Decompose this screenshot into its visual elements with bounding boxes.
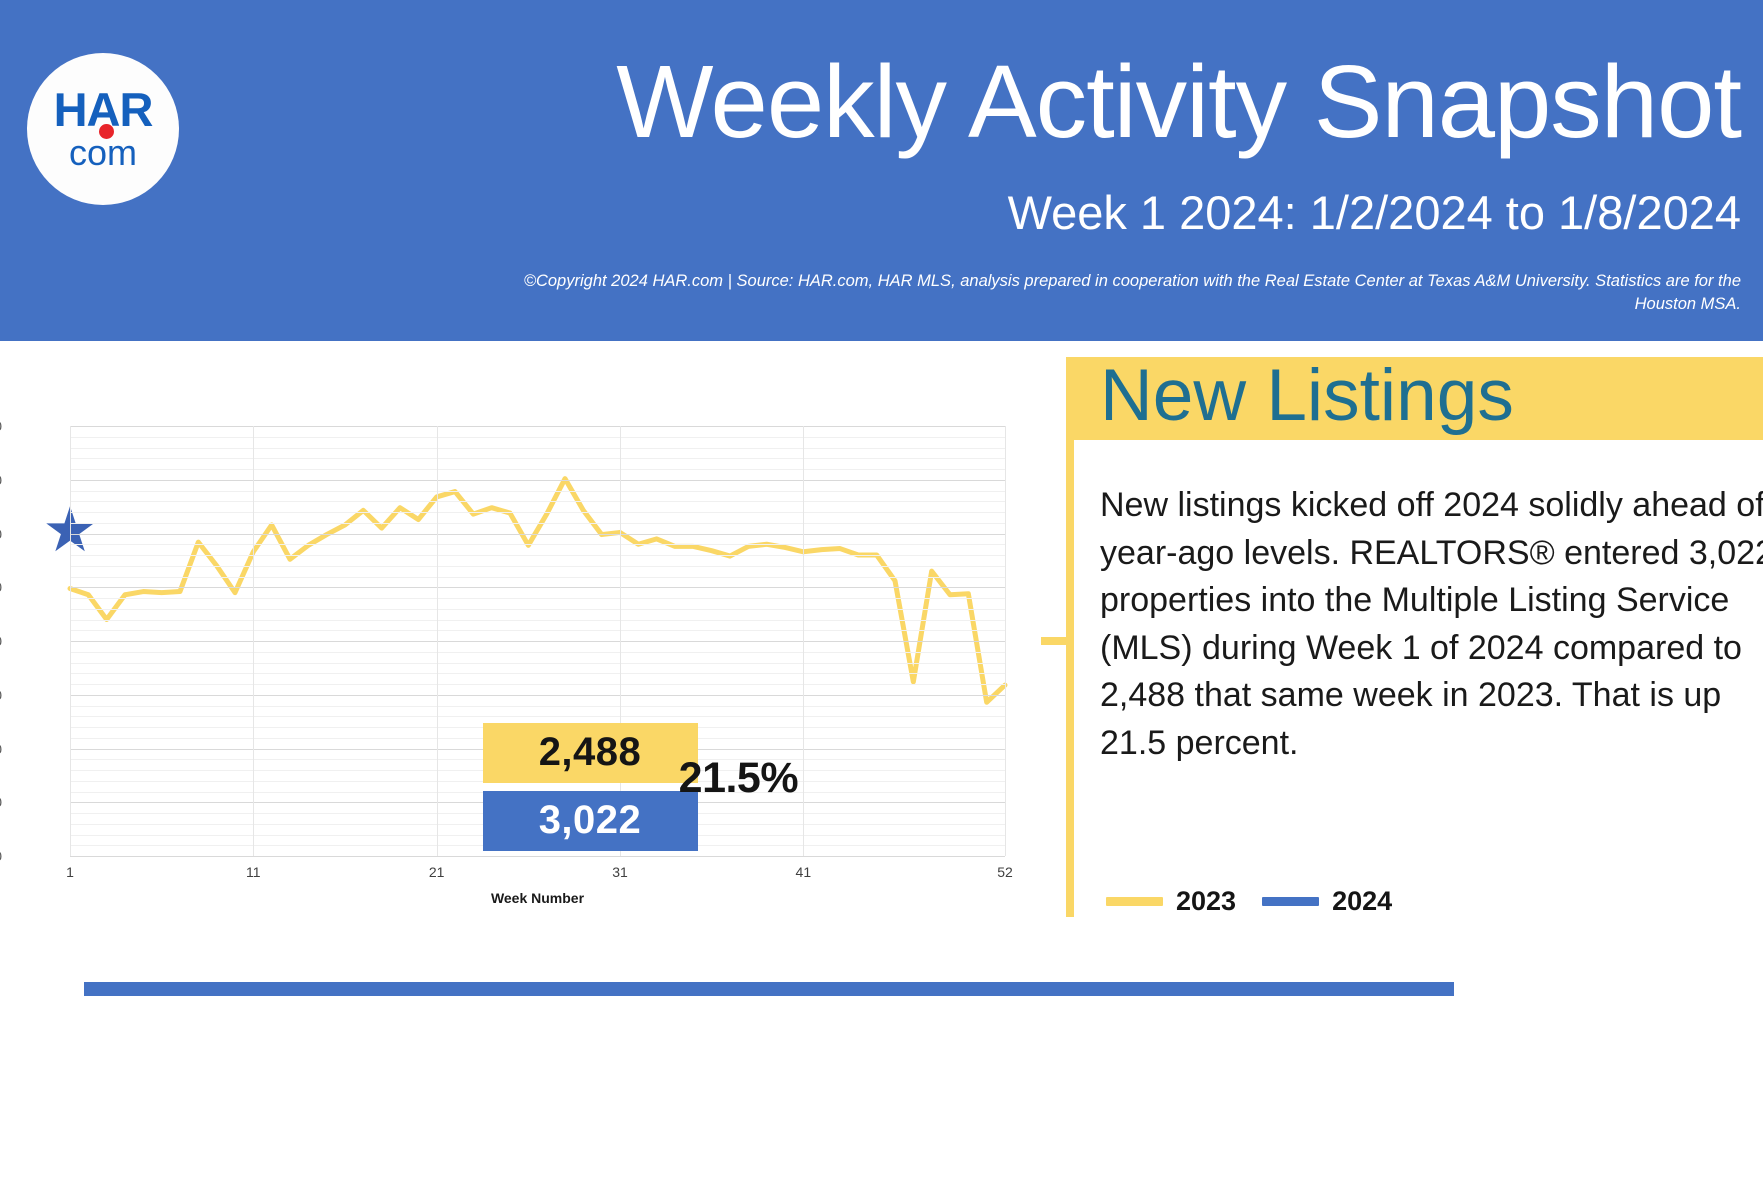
x-axis-tick-label: 41 [796, 864, 812, 880]
grid-line-major [70, 534, 1005, 535]
har-logo: HAR com [27, 53, 179, 205]
grid-line-major [70, 695, 1005, 696]
grid-line-minor [70, 523, 1005, 524]
grid-line-minor [70, 512, 1005, 513]
page-subtitle: Week 1 2024: 1/2/2024 to 1/8/2024 [1008, 188, 1741, 237]
x-axis-tick-label: 52 [997, 864, 1013, 880]
grid-line-major [70, 587, 1005, 588]
legend-swatch-2023 [1106, 897, 1163, 906]
legend-swatch-2024 [1262, 897, 1319, 906]
legend-label-2023: 2023 [1176, 886, 1236, 917]
grid-line-minor [70, 555, 1005, 556]
legend-label-2024: 2024 [1332, 886, 1392, 917]
grid-line-major [70, 856, 1005, 857]
grid-line-minor [70, 491, 1005, 492]
section-title: New Listings [1100, 353, 1514, 439]
y-axis-tick-label: 3,000 [0, 526, 2, 542]
grid-line-minor [70, 469, 1005, 470]
grid-line-vertical [253, 426, 254, 856]
grid-line-minor [70, 598, 1005, 599]
chart-legend: 2023 2024 [1106, 886, 1392, 917]
grid-line-vertical [70, 426, 71, 856]
grid-line-minor [70, 706, 1005, 707]
x-axis-tick-label: 1 [66, 864, 74, 880]
y-axis-tick-label: 3,500 [0, 472, 2, 488]
grid-line-minor [70, 458, 1005, 459]
x-axis-tick-label: 31 [612, 864, 628, 880]
percent-change-label: 21.5% [679, 754, 798, 803]
y-axis-tick-label: 1,000 [0, 741, 2, 757]
grid-line-minor [70, 609, 1005, 610]
y-axis-tick-label: 500 [0, 794, 2, 810]
logo-com-text: com [69, 136, 137, 170]
grid-line-minor [70, 577, 1005, 578]
x-axis-tick-label: 21 [429, 864, 445, 880]
page-header: HAR com Weekly Activity Snapshot Week 1 … [0, 0, 1763, 341]
x-axis-tick-label: 11 [246, 864, 261, 880]
section-body-text: New listings kicked off 2024 solidly ahe… [1100, 482, 1763, 768]
section-banner: New Listings [1074, 357, 1763, 440]
comparison-bars: 2,488 3,022 [483, 723, 698, 851]
grid-line-minor [70, 437, 1005, 438]
grid-line-vertical [803, 426, 804, 856]
grid-line-major [70, 480, 1005, 481]
legend-item-2024: 2024 [1262, 886, 1392, 917]
comparison-bar-2024: 3,022 [483, 791, 698, 851]
legend-item-2023: 2023 [1106, 886, 1236, 917]
grid-line-minor [70, 448, 1005, 449]
grid-line-minor [70, 566, 1005, 567]
y-axis-tick-label: 1,500 [0, 687, 2, 703]
grid-line-vertical [1005, 426, 1006, 856]
x-axis-title: Week Number [70, 890, 1005, 906]
grid-line-minor [70, 544, 1005, 545]
grid-line-minor [70, 663, 1005, 664]
weekly-line-chart: ★ Week Number 4,0003,5003,0002,5002,0001… [0, 341, 1060, 921]
comparison-bar-2023: 2,488 [483, 723, 698, 783]
copyright-source-note: ©Copyright 2024 HAR.com | Source: HAR.co… [471, 270, 1741, 317]
grid-line-major [70, 426, 1005, 427]
page-title: Weekly Activity Snapshot [616, 48, 1741, 156]
callout-bracket-pointer [1041, 637, 1071, 645]
y-axis-tick-label: 0 [0, 848, 2, 864]
grid-line-minor [70, 501, 1005, 502]
grid-line-minor [70, 716, 1005, 717]
grid-line-minor [70, 620, 1005, 621]
footer-accent-bar [84, 982, 1454, 996]
y-axis-tick-label: 2,000 [0, 633, 2, 649]
y-axis-tick-label: 2,500 [0, 579, 2, 595]
grid-line-minor [70, 630, 1005, 631]
grid-line-minor [70, 652, 1005, 653]
grid-line-minor [70, 673, 1005, 674]
y-axis-tick-label: 4,000 [0, 418, 2, 434]
grid-line-minor [70, 684, 1005, 685]
grid-line-vertical [437, 426, 438, 856]
grid-line-major [70, 641, 1005, 642]
